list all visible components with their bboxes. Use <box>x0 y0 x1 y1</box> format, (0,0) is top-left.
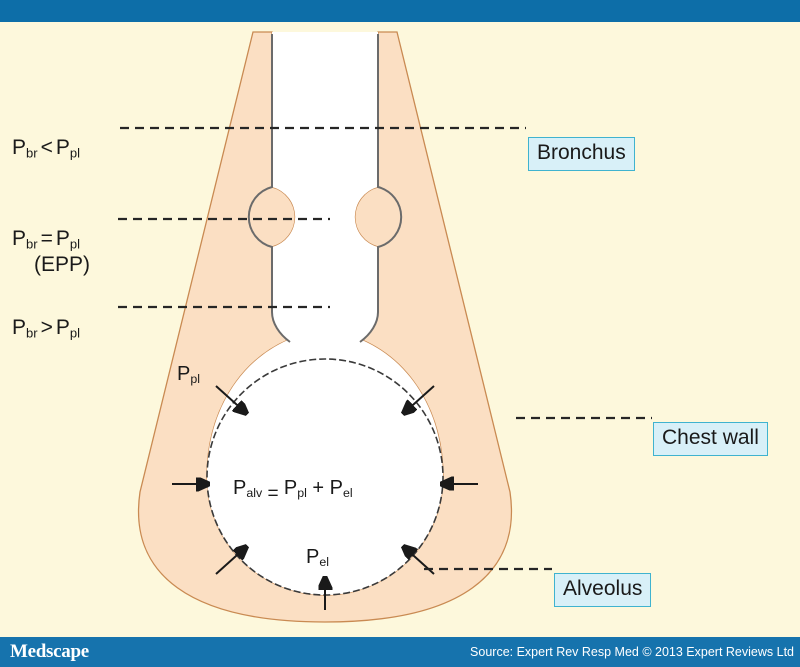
label-pleural-pressure: Ppl <box>177 363 200 386</box>
label-pbr-equals-ppl: Pbr=Ppl <box>12 227 80 252</box>
pbr-gt-text: Pbr>Ppl <box>12 316 80 339</box>
callout-alveolus[interactable]: Alveolus <box>554 573 651 607</box>
pbr-lt-text: Pbr<Ppl <box>12 136 80 159</box>
callout-chest-wall[interactable]: Chest wall <box>653 422 768 456</box>
pbr-eq-text: Pbr=Ppl <box>12 227 80 250</box>
label-elastic-recoil-pressure: Pel <box>306 546 329 569</box>
label-alveolar-pressure-equation: Palv = Ppl + Pel <box>233 477 353 506</box>
respiratory-pressure-diagram: Pbr<Ppl Pbr=Ppl (EPP) Pbr>Ppl Ppl Palv =… <box>0 22 800 637</box>
callout-bronchus[interactable]: Bronchus <box>528 137 635 171</box>
top-banner-bar <box>0 0 800 22</box>
source-attribution: Source: Expert Rev Resp Med © 2013 Exper… <box>470 645 794 659</box>
medscape-logo[interactable]: Medscape <box>10 641 89 663</box>
screenshot-root: Pbr<Ppl Pbr=Ppl (EPP) Pbr>Ppl Ppl Palv =… <box>0 0 800 667</box>
label-pbr-greater-than-ppl: Pbr>Ppl <box>12 316 80 341</box>
diagram-svg <box>0 22 800 637</box>
label-epp-note: (EPP) <box>34 253 90 276</box>
label-pbr-less-than-ppl: Pbr<Ppl <box>12 136 80 161</box>
